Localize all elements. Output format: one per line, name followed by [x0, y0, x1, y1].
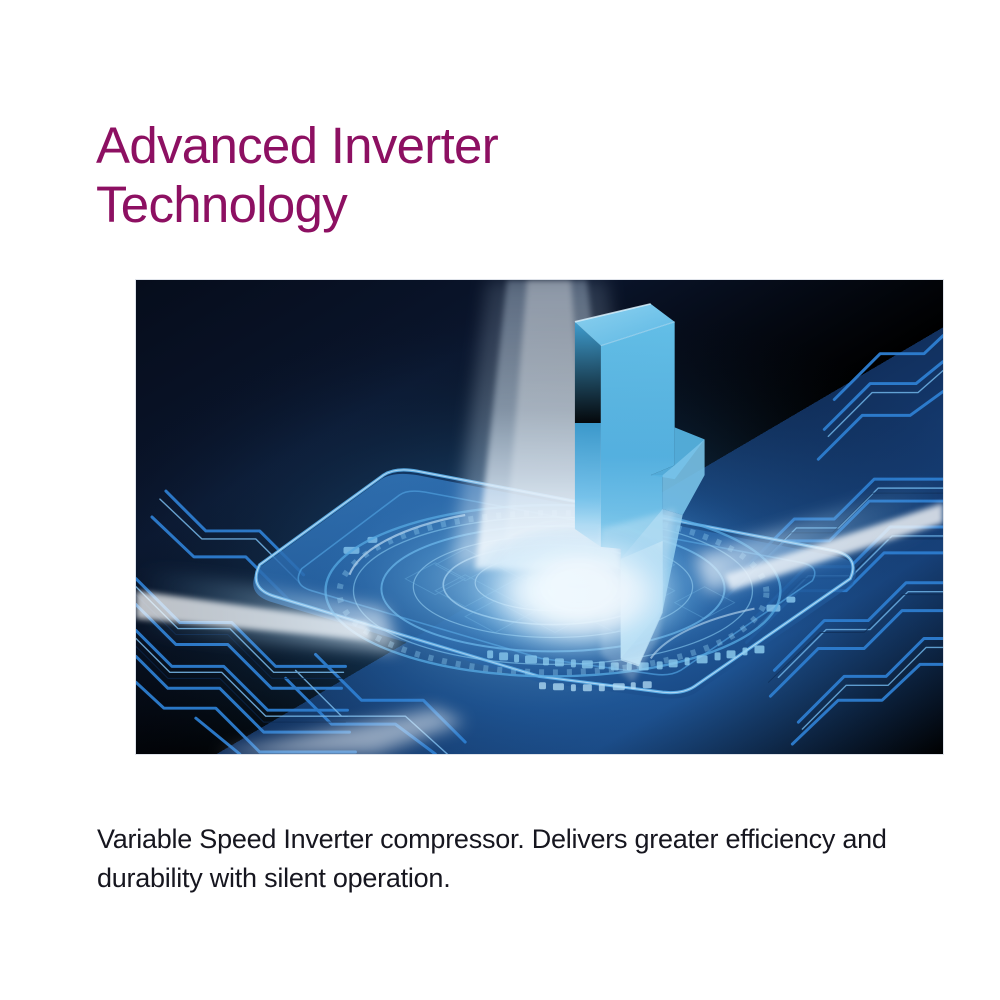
feature-card: Advanced Inverter Technology: [0, 0, 1000, 1000]
inverter-technology-illustration: [136, 280, 943, 754]
page-title: Advanced Inverter Technology: [96, 116, 796, 234]
feature-description: Variable Speed Inverter compressor. Deli…: [97, 820, 897, 897]
hero-image: [135, 279, 944, 755]
